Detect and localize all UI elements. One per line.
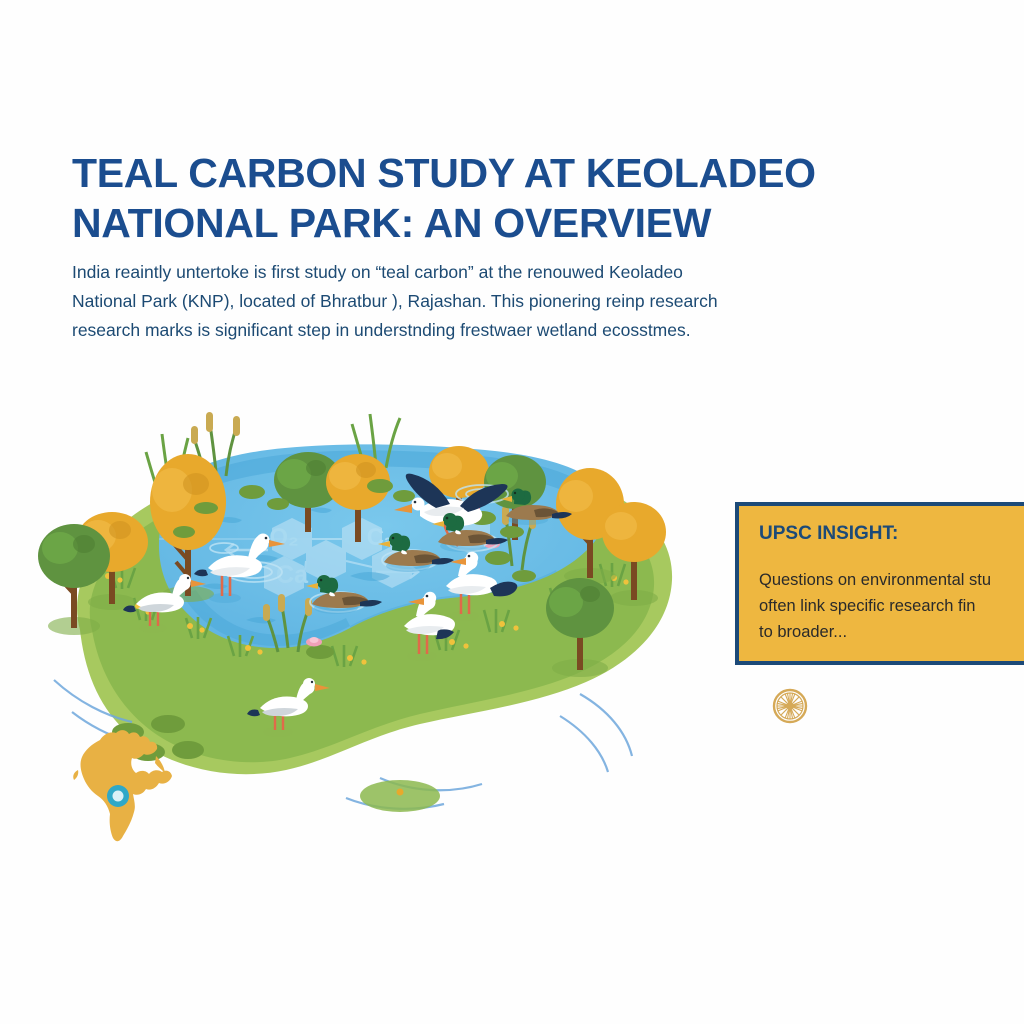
poster-canvas: TEAL CARBON STUDY AT KEOLADEO NATIONAL P… <box>0 0 1024 1024</box>
upsc-body-line-3: to broader... <box>759 619 1024 645</box>
page-title: TEAL CARBON STUDY AT KEOLADEO NATIONAL P… <box>72 148 872 248</box>
upsc-insight-title: UPSC INSIGHT: <box>759 523 898 545</box>
india-map-icon <box>70 726 185 846</box>
ashoka-chakra-icon <box>771 687 809 725</box>
page-title-line-1: TEAL CARBON STUDY AT KEOLADEO <box>72 148 872 198</box>
intro-line-1: India reaintly untertoke is first study … <box>72 258 952 287</box>
watermark-label-c: Cₐ <box>367 524 393 551</box>
page-title-line-2: NATIONAL PARK: AN OVERVIEW <box>72 198 872 248</box>
upsc-insight-body: Questions on environmental stu often lin… <box>759 567 1024 645</box>
upsc-body-line-2: often link specific research fin <box>759 593 1024 619</box>
intro-line-2: National Park (KNP), located of Bhratbur… <box>72 287 952 316</box>
intro-paragraph: India reaintly untertoke is first study … <box>72 258 952 345</box>
watermark-label-o2: O₂ <box>269 524 298 551</box>
upsc-body-line-1: Questions on environmental stu <box>759 567 1024 593</box>
upsc-insight-card: UPSC INSIGHT: Questions on environmental… <box>735 502 1024 665</box>
intro-line-3: research marks is significant step in un… <box>72 316 952 345</box>
location-marker-center <box>113 791 124 802</box>
